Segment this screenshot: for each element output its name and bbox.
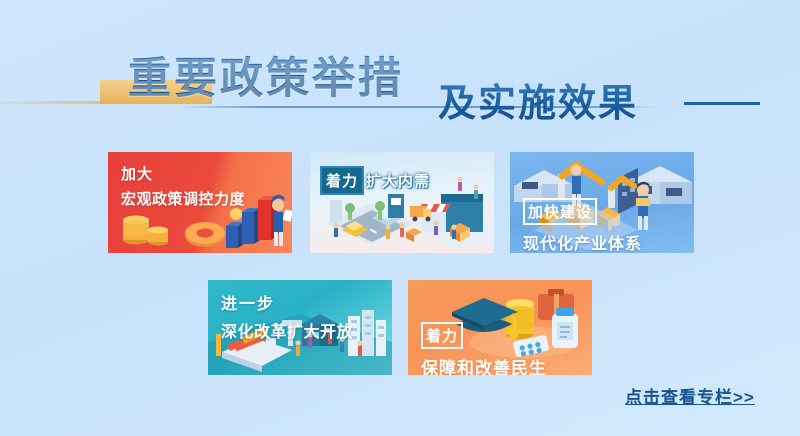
card-improve-livelihood-line2: 保障和改善民生 xyxy=(421,354,547,375)
card-macro-policy-line1: 加大 xyxy=(121,163,245,184)
view-column-link[interactable]: 点击查看专栏>> xyxy=(625,383,755,408)
poster-canvas: 重要政策举措 及实施效果 xyxy=(0,0,800,436)
card-deepen-reform-text: 进一步 深化改革扩大开放 xyxy=(221,290,353,342)
card-macro-policy-text: 加大 宏观政策调控力度 xyxy=(121,163,245,209)
card-deepen-reform-line1: 进一步 xyxy=(221,290,353,314)
card-expand-demand-line1: 着力 xyxy=(320,166,364,195)
card-improve-livelihood[interactable]: 着力 保障和改善民生 xyxy=(408,280,592,375)
card-expand-demand[interactable]: 着力扩大内需 xyxy=(310,152,494,253)
title-sub-text: 及实施效果 xyxy=(438,72,638,127)
card-improve-livelihood-line1: 着力 xyxy=(421,322,463,349)
card-modern-industry-line1: 加快建设 xyxy=(523,198,597,225)
card-modern-industry-text: 加快建设 现代化产业体系 xyxy=(523,198,642,253)
card-modern-industry[interactable]: 加快建设 现代化产业体系 xyxy=(510,152,694,253)
card-expand-demand-text: 着力扩大内需 xyxy=(320,166,430,195)
card-improve-livelihood-text: 着力 保障和改善民生 xyxy=(421,322,547,375)
card-macro-policy[interactable]: 加大 宏观政策调控力度 xyxy=(108,152,292,253)
card-modern-industry-line2: 现代化产业体系 xyxy=(523,230,642,253)
card-expand-demand-line2: 扩大内需 xyxy=(366,170,430,191)
title-main-text: 重要政策举措 xyxy=(128,44,404,106)
coin-stack-icon xyxy=(123,216,168,246)
person-icon xyxy=(272,195,292,246)
page-title: 重要政策举措 及实施效果 xyxy=(0,38,800,128)
card-deepen-reform[interactable]: 进一步 深化改革扩大开放 xyxy=(208,280,392,375)
card-macro-policy-line2: 宏观政策调控力度 xyxy=(121,188,245,209)
donut-chart-icon xyxy=(185,222,225,247)
title-blue-rule xyxy=(684,102,760,105)
card-deepen-reform-line2: 深化改革扩大开放 xyxy=(221,318,353,342)
